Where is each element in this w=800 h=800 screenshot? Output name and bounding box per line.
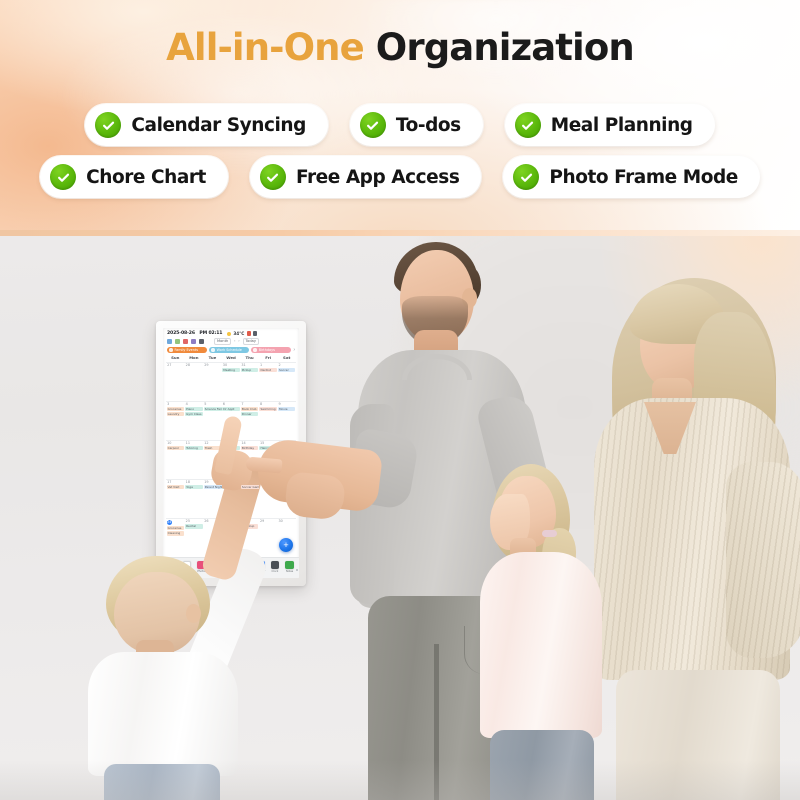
- calendar-event-chip[interactable]: Book Club: [241, 407, 258, 411]
- calendar-day-cell[interactable]: 10Carpool: [166, 440, 185, 479]
- calendar-day-number: 17: [167, 481, 184, 484]
- calendar-event-chip[interactable]: Soccer Game: [241, 485, 259, 489]
- girl-hair-tie: [542, 530, 557, 537]
- calendar-event-chip[interactable]: Yoga: [185, 485, 202, 489]
- filter-dot-icon: [169, 348, 173, 352]
- weekday-fri: Fri: [259, 355, 278, 360]
- feature-pill-label: Chore Chart: [86, 167, 206, 188]
- calendar-day-number: 7: [241, 403, 258, 406]
- calendar-toolbar: Month ‹ › Today: [163, 337, 299, 347]
- feature-pill-label: Photo Frame Mode: [549, 167, 737, 188]
- weekday-thu: Thu: [240, 355, 259, 360]
- calendar-event-chip[interactable]: Gym Class: [185, 412, 202, 416]
- calendar-status-bar: 2025-08-26 PM 02:11 34°C: [163, 328, 299, 337]
- calendar-event-chip[interactable]: Birthday: [241, 446, 258, 450]
- calendar-event-chip[interactable]: Parent Night: [204, 485, 222, 489]
- calendar-day-cell[interactable]: 9Movie: [277, 401, 296, 440]
- feature-pill-label: Calendar Syncing: [131, 115, 306, 136]
- dock-item-label: Notes: [286, 570, 293, 573]
- feature-pill-free-app-access[interactable]: Free App Access: [250, 156, 481, 198]
- status-date: 2025-08-26: [167, 331, 195, 336]
- calendar-day-cell[interactable]: 1Dentist: [259, 362, 278, 401]
- calendar-day-number: 2: [278, 364, 295, 367]
- feature-pill-chore-chart[interactable]: Chore Chart: [40, 156, 228, 198]
- view-selector[interactable]: Month: [214, 338, 231, 345]
- calendar-day-number: 14: [241, 442, 258, 445]
- calendar-day-number: 30: [222, 364, 239, 367]
- calendar-event-chip[interactable]: Dr Appt: [222, 407, 239, 411]
- feature-pill-photo-frame-mode[interactable]: Photo Frame Mode: [503, 156, 759, 198]
- weekday-tue: Tue: [203, 355, 222, 360]
- calendar-event-chip[interactable]: Dinner: [241, 412, 258, 416]
- calendar-event-chip[interactable]: Recital: [185, 524, 202, 528]
- notes-icon: [285, 561, 294, 570]
- man-pointing-finger: [245, 456, 282, 473]
- calendar-event-chip[interactable]: Laundry: [167, 412, 184, 416]
- filter-pill-work-schedule[interactable]: Work Schedule: [209, 347, 249, 354]
- feature-pill-calendar-syncing[interactable]: Calendar Syncing: [85, 104, 328, 146]
- calendar-day-number: 25: [185, 520, 202, 523]
- weekday-mon: Mon: [185, 355, 204, 360]
- calendar-day-cell[interactable]: 8Swimming: [259, 401, 278, 440]
- calendar-day-cell[interactable]: 27: [166, 362, 185, 401]
- feature-pill-row: Calendar Syncing To-dos Meal Planning: [0, 104, 800, 146]
- calendar-day-number: 29: [204, 364, 221, 367]
- floor-shadow: [0, 760, 800, 800]
- today-button[interactable]: Today: [243, 338, 259, 345]
- calendar-day-number: 28: [185, 364, 202, 367]
- calendar-day-cell[interactable]: 31Pickup: [240, 362, 259, 401]
- weekday-wed: Wed: [222, 355, 241, 360]
- prev-month-button[interactable]: ‹: [234, 339, 235, 343]
- calendar-day-number: 11: [185, 442, 202, 445]
- woman-sleeve: [726, 462, 800, 658]
- calendar-event-chip[interactable]: Pickup: [241, 368, 258, 372]
- boy-ear: [186, 604, 201, 623]
- calendar-event-chip[interactable]: Vet Visit: [167, 485, 184, 489]
- page-title: All-in-One Organization: [0, 26, 800, 69]
- filters-more-button[interactable]: ›: [293, 347, 296, 353]
- calendar-event-chip[interactable]: Movie: [278, 407, 295, 411]
- next-month-button[interactable]: ›: [238, 339, 239, 343]
- check-circle-icon: [260, 164, 286, 190]
- calendar-day-cell[interactable]: 4PianoGym Class: [185, 401, 204, 440]
- calendar-day-number: 29: [259, 520, 276, 523]
- headline-rest: Organization: [364, 26, 634, 69]
- calendar-day-number: 1: [259, 364, 276, 367]
- calendar-day-cell[interactable]: 2Soccer: [277, 362, 296, 401]
- calendar-day-number: 6: [222, 403, 239, 406]
- check-circle-icon: [360, 112, 386, 138]
- calendar-event-chip[interactable]: Piano: [185, 407, 202, 411]
- calendar-day-number: 5: [204, 403, 221, 406]
- weekday-sun: Sun: [166, 355, 185, 360]
- calendar-day-number: 3: [167, 403, 184, 406]
- calendar-day-number: 27: [167, 364, 184, 367]
- status-time: PM 02:11: [199, 331, 222, 336]
- dock-item-notes[interactable]: Notes: [283, 561, 296, 574]
- calendar-day-cell[interactable]: 30Meeting: [222, 362, 241, 401]
- status-temperature: 34°C: [233, 331, 244, 336]
- calendar-day-cell[interactable]: 28: [185, 362, 204, 401]
- calendar-event-chip[interactable]: Meeting: [222, 368, 239, 372]
- calendar-day-number: 8: [259, 403, 276, 406]
- grid-icon[interactable]: [167, 339, 172, 344]
- feature-pill-to-dos[interactable]: To-dos: [350, 104, 483, 146]
- calendar-day-number: 18: [185, 481, 202, 484]
- calendar-day-cell[interactable]: 29: [259, 518, 278, 557]
- calendar-event-chip[interactable]: Cleaning: [167, 531, 184, 535]
- calendar-day-number: 9: [278, 403, 295, 406]
- promo-banner: All-in-One Organization Calendar Syncing…: [0, 0, 800, 236]
- feature-pill-label: To-dos: [396, 115, 461, 136]
- check-circle-icon: [95, 112, 121, 138]
- calendar-filter-list: Family Events Work Schedule Birthdays ›: [163, 347, 299, 356]
- sun-icon: [227, 332, 231, 336]
- calendar-day-cell[interactable]: 29: [203, 362, 222, 401]
- filter-label: Family Events: [175, 348, 198, 352]
- calendar-day-number: 31: [241, 364, 258, 367]
- person-woman: [600, 278, 800, 800]
- battery-icon: [253, 331, 257, 336]
- dock-item-label: Clock: [272, 570, 279, 573]
- menu-icon[interactable]: [199, 339, 204, 344]
- user-icon[interactable]: [191, 339, 196, 344]
- feature-pill-label: Free App Access: [296, 167, 459, 188]
- person-girl: [484, 466, 606, 800]
- list-icon[interactable]: [175, 339, 180, 344]
- calendar-day-cell[interactable]: 17Vet Visit: [166, 479, 185, 518]
- person-icon: [247, 331, 251, 336]
- calendar-day-cell[interactable]: 7Book ClubDinner: [240, 401, 259, 440]
- power-indicator-icon: [296, 569, 298, 571]
- calendar-event-chip[interactable]: Groceries: [167, 526, 184, 530]
- calendar-event-chip[interactable]: Swimming: [259, 407, 276, 411]
- filter-dot-icon: [253, 348, 257, 352]
- calendar-event-chip[interactable]: Soccer: [278, 368, 295, 372]
- girl-shirt: [480, 552, 602, 738]
- filter-pill-birthdays[interactable]: Birthdays: [251, 347, 291, 354]
- check-circle-icon: [50, 164, 76, 190]
- check-circle-icon: [513, 164, 539, 190]
- calendar-event-chip[interactable]: Science Fair: [204, 407, 222, 411]
- calendar-day-number: 10: [167, 442, 184, 445]
- calendar-day-number: 30: [278, 520, 295, 523]
- dock-item-clock[interactable]: Clock: [268, 561, 281, 574]
- boy-shirt: [88, 652, 238, 776]
- add-event-button[interactable]: +: [279, 538, 293, 552]
- calendar-event-chip[interactable]: Groceries: [167, 407, 184, 411]
- feature-pill-meal-planning[interactable]: Meal Planning: [505, 104, 715, 146]
- calendar-day-number: 4: [185, 403, 202, 406]
- calendar-event-chip[interactable]: Tutoring: [185, 446, 202, 450]
- calendar-event-chip[interactable]: Carpool: [167, 446, 184, 450]
- calendar-day-cell[interactable]: 5Science Fair: [203, 401, 222, 440]
- calendar-day-number: 12: [204, 442, 221, 445]
- filter-label: Work Schedule: [217, 348, 242, 352]
- headline-accent: All-in-One: [166, 26, 364, 69]
- calendar-day-cell[interactable]: 11Tutoring: [185, 440, 204, 479]
- filter-label: Birthdays: [259, 348, 275, 352]
- filter-pill-family-events[interactable]: Family Events: [167, 347, 207, 354]
- calendar-day-number: 24: [167, 520, 172, 525]
- calendar-day-cell[interactable]: 25Recital: [185, 518, 204, 557]
- clock-icon: [271, 561, 280, 570]
- filter-dot-icon: [211, 348, 215, 352]
- calendar-icon[interactable]: [183, 339, 188, 344]
- lifestyle-photo: 2025-08-26 PM 02:11 34°C Month ‹ › Today: [0, 236, 800, 800]
- check-circle-icon: [515, 112, 541, 138]
- feature-pill-row: Chore Chart Free App Access Photo Frame …: [0, 156, 800, 198]
- weekday-sat: Sat: [277, 355, 296, 360]
- feature-pill-list: Calendar Syncing To-dos Meal Planning: [0, 104, 800, 208]
- calendar-event-chip[interactable]: Dentist: [259, 368, 276, 372]
- feature-pill-label: Meal Planning: [551, 115, 693, 136]
- calendar-day-cell[interactable]: 3GroceriesLaundry: [166, 401, 185, 440]
- calendar-day-cell[interactable]: 18Yoga: [185, 479, 204, 518]
- calendar-day-cell[interactable]: 24GroceriesCleaning: [166, 518, 185, 557]
